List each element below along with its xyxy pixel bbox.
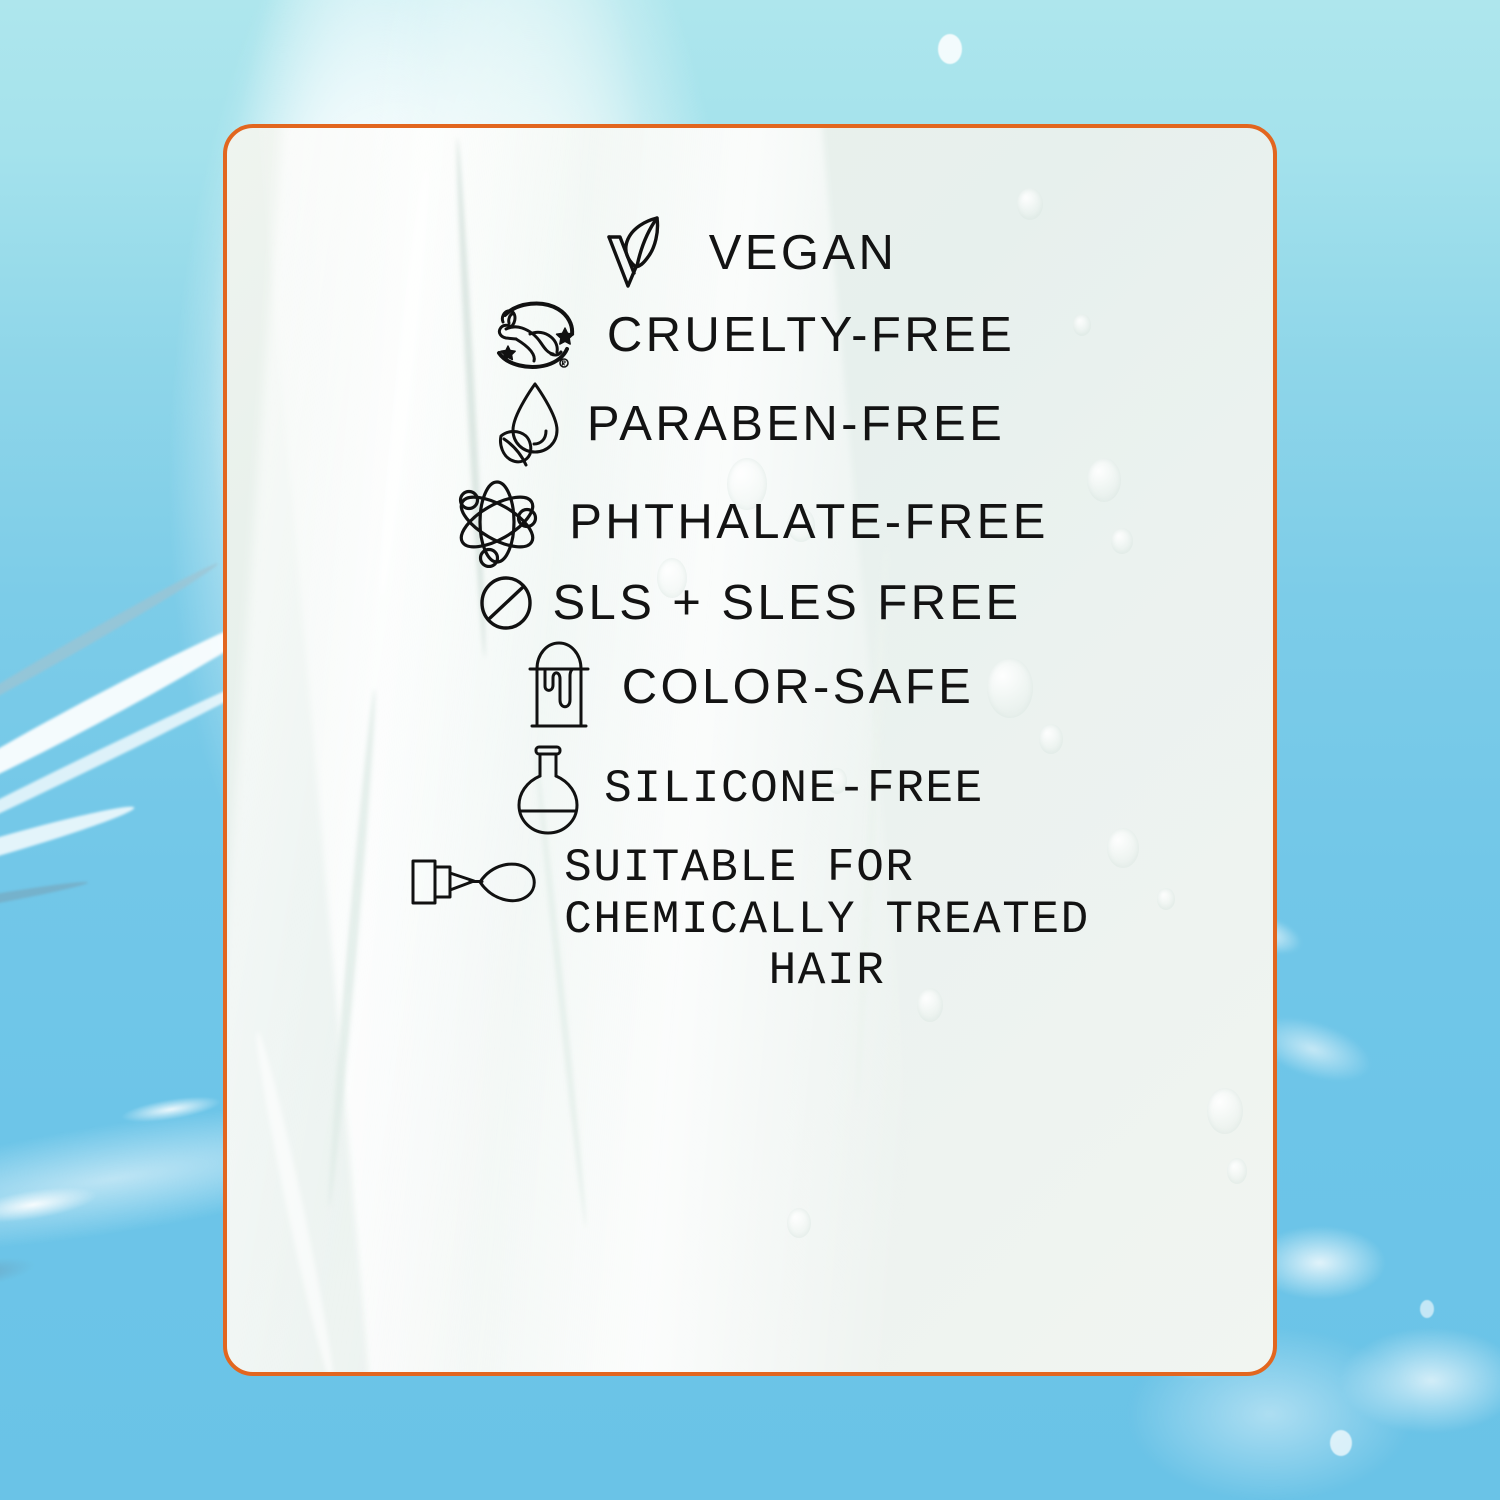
water-droplet [1420, 1300, 1434, 1318]
claim-label-color-safe: COLOR-SAFE [622, 661, 975, 714]
claim-label-paraben-free: PARABEN-FREE [587, 398, 1005, 451]
claim-row-phthalate-free: PHTHALATE-FREE [227, 476, 1273, 568]
claims-list: VEGAN [227, 128, 1273, 997]
claim-row-sls-sles-free: SLS + SLES FREE [227, 574, 1273, 632]
water-droplet [1330, 1430, 1352, 1456]
leaping-bunny-icon [485, 298, 581, 372]
claim-label-suitable-line1: SUITABLE FOR [564, 844, 1090, 894]
claim-label-cruelty-free: CRUELTY-FREE [607, 309, 1015, 362]
claim-row-vegan: VEGAN [227, 214, 1273, 292]
claim-row-color-safe: COLOR-SAFE [227, 638, 1273, 736]
water-droplet [938, 34, 962, 64]
claim-row-paraben-free: PARABEN-FREE [227, 378, 1273, 470]
claim-row-silicone-free: SILICONE-FREE [227, 742, 1273, 838]
prohibited-icon [478, 574, 534, 632]
claim-label-suitable-block: SUITABLE FOR CHEMICALLY TREATED HAIR [564, 844, 1090, 997]
claim-row-suitable-for-chemically-treated-hair: SUITABLE FOR CHEMICALLY TREATED HAIR [227, 844, 1273, 997]
claim-label-phthalate-free: PHTHALATE-FREE [569, 496, 1049, 549]
claim-label-vegan: VEGAN [709, 227, 898, 280]
claim-label-silicone-free: SILICONE-FREE [604, 765, 984, 815]
droplet-leaf-icon [495, 378, 561, 470]
claims-card: VEGAN [223, 124, 1277, 1376]
paint-bucket-icon [526, 638, 592, 736]
lab-flask-icon [516, 742, 582, 838]
atom-icon [451, 476, 543, 568]
hair-applicator-icon [410, 852, 542, 912]
claim-label-suitable-line2: CHEMICALLY TREATED [564, 896, 1090, 946]
claim-row-cruelty-free: CRUELTY-FREE [227, 298, 1273, 372]
claim-label-suitable-line3: HAIR [564, 947, 1090, 997]
leaf-v-icon [603, 214, 665, 292]
claim-label-sls-sles-free: SLS + SLES FREE [552, 577, 1021, 630]
